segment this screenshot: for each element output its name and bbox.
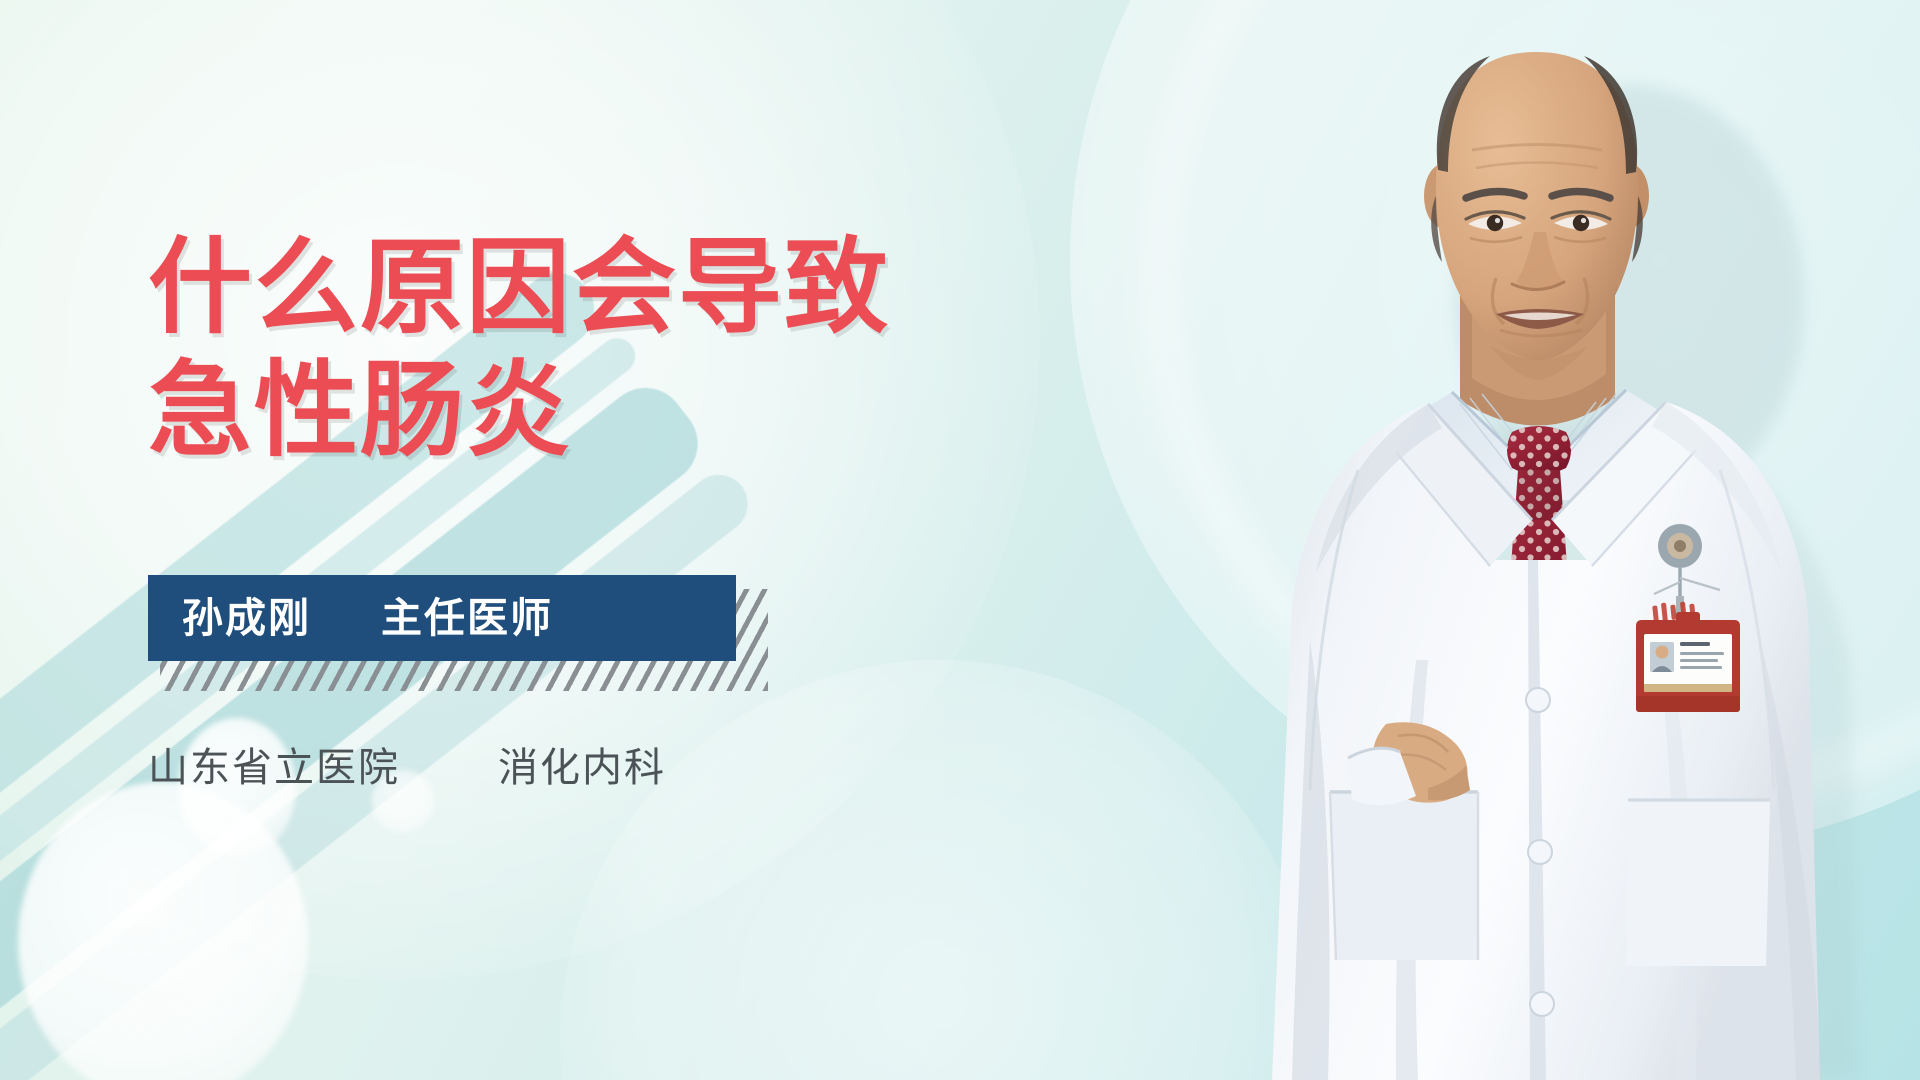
affiliation-line: 山东省立医院 消化内科: [148, 735, 1168, 793]
headline-line-1: 什么原因会导致: [148, 226, 1168, 349]
page-title: 什么原因会导致 急性肠炎: [148, 226, 1168, 471]
badge-bar: 孙成刚 主任医师: [148, 575, 736, 661]
bubble-circle: [18, 782, 308, 1080]
doctor-title: 主任医师: [381, 598, 553, 639]
credential-badge: 孙成刚 主任医师: [148, 575, 768, 691]
doctor-portrait: [1160, 0, 1920, 1080]
department-name: 消化内科: [498, 735, 666, 793]
banner-canvas: 什么原因会导致 急性肠炎 孙成刚 主任医师 山东省立医院 消化内科: [0, 0, 1920, 1080]
hospital-name: 山东省立医院: [148, 735, 400, 793]
banner-content: 什么原因会导致 急性肠炎 孙成刚 主任医师 山东省立医院 消化内科: [148, 226, 1168, 793]
headline-line-2: 急性肠炎: [148, 349, 1168, 472]
doctor-name: 孙成刚: [182, 598, 311, 639]
